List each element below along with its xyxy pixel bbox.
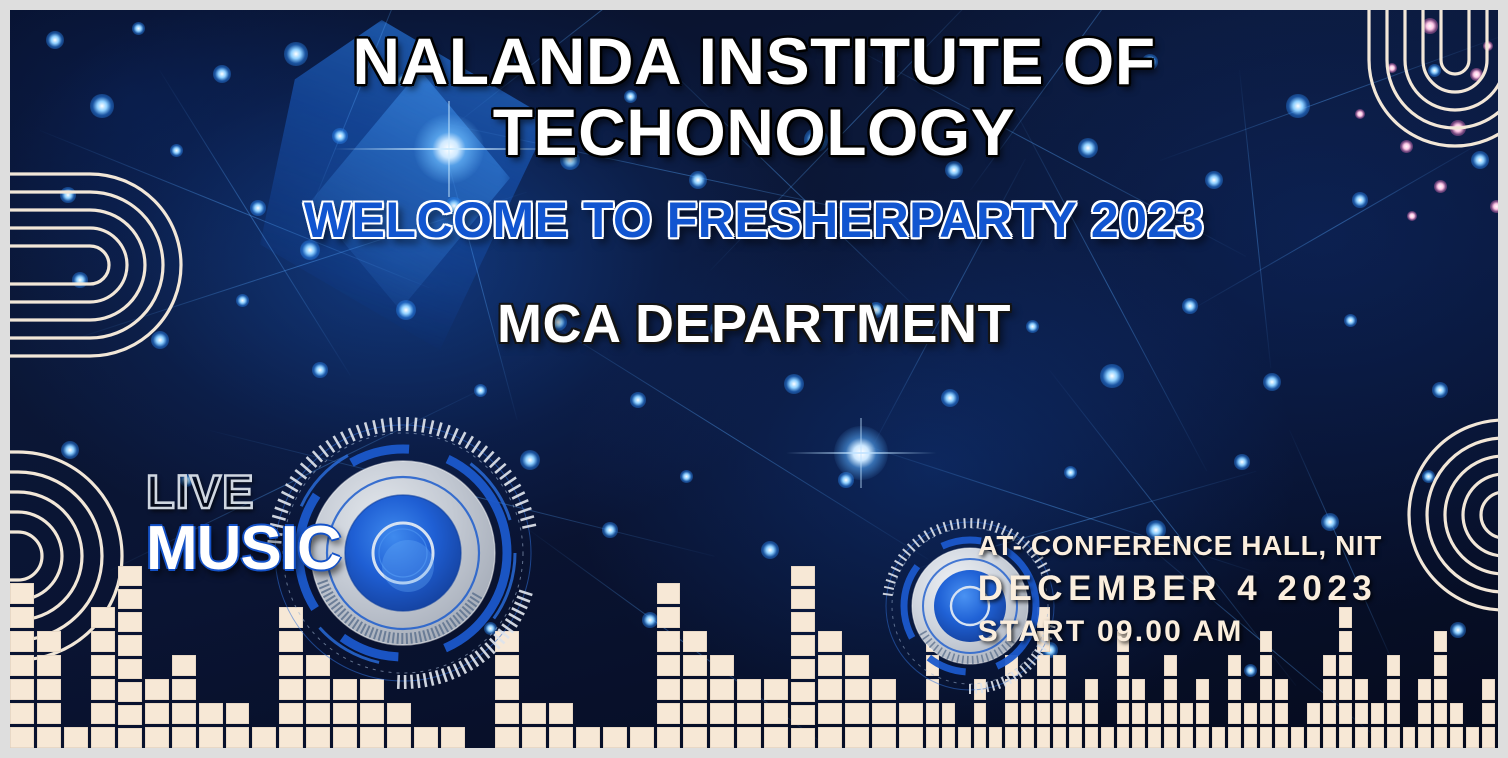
star-node — [784, 374, 805, 395]
equalizer-block — [872, 703, 896, 724]
equalizer-block — [226, 727, 250, 748]
equalizer-block — [1371, 727, 1384, 748]
equalizer-block — [1085, 727, 1098, 748]
equalizer-block — [683, 679, 707, 700]
equalizer-block — [1228, 655, 1241, 676]
equalizer-block — [252, 727, 276, 748]
equalizer-column — [91, 563, 115, 748]
star-node — [312, 362, 328, 378]
welcome-subtitle: WELCOME TO FRESHERPARTY 2023 — [10, 191, 1498, 249]
event-date: DECEMBER 4 2023 — [978, 569, 1382, 609]
equalizer-block — [1132, 703, 1145, 724]
equalizer-block — [118, 682, 142, 702]
equalizer-block — [1148, 727, 1161, 748]
equalizer-block — [1291, 727, 1304, 748]
equalizer-block — [1275, 703, 1288, 724]
equalizer-block — [899, 703, 923, 724]
equalizer-block — [1307, 727, 1320, 748]
equalizer-block — [791, 566, 815, 586]
equalizer-block — [1323, 727, 1336, 748]
equalizer-block — [118, 612, 142, 632]
equalizer-block — [64, 727, 88, 748]
equalizer-column — [37, 563, 61, 748]
equalizer-block — [1053, 703, 1066, 724]
institute-title-line2: TECHONOLOGY — [10, 97, 1498, 168]
equalizer-block — [764, 703, 788, 724]
equalizer-block — [1323, 679, 1336, 700]
equalizer-block — [683, 631, 707, 652]
equalizer-block — [1260, 703, 1273, 724]
equalizer-block — [1275, 727, 1288, 748]
star-node — [1234, 454, 1250, 470]
equalizer-block — [172, 655, 196, 676]
equalizer-block — [818, 703, 842, 724]
equalizer-block — [1117, 727, 1130, 748]
equalizer-block — [1339, 703, 1352, 724]
equalizer-block — [549, 703, 573, 724]
equalizer-block — [1053, 727, 1066, 748]
equalizer-block — [91, 631, 115, 652]
equalizer-block — [1434, 655, 1447, 676]
equalizer-block — [1434, 631, 1447, 652]
equalizer-block — [1387, 703, 1400, 724]
equalizer-block — [1196, 703, 1209, 724]
equalizer-block — [1355, 679, 1368, 700]
equalizer-block — [942, 727, 955, 748]
equalizer-block — [791, 682, 815, 702]
equalizer-block — [974, 727, 987, 748]
equalizer-block — [172, 703, 196, 724]
equalizer-block — [1387, 679, 1400, 700]
equalizer-column — [683, 563, 707, 748]
equalizer-column — [1466, 563, 1479, 748]
equalizer-block — [1418, 703, 1431, 724]
equalizer-block — [333, 703, 357, 724]
equalizer-column — [199, 563, 223, 748]
star-node — [680, 470, 693, 483]
equalizer-block — [172, 727, 196, 748]
equalizer-block — [764, 727, 788, 748]
event-venue: AT- CONFERENCE HALL, NIT — [978, 530, 1382, 562]
equalizer-block — [1403, 727, 1416, 748]
equalizer-block — [710, 679, 734, 700]
equalizer-block — [657, 727, 681, 748]
equalizer-block — [1180, 703, 1193, 724]
equalizer-column — [1403, 563, 1416, 748]
equalizer-block — [1196, 727, 1209, 748]
equalizer-block — [1355, 727, 1368, 748]
equalizer-column — [1387, 563, 1400, 748]
equalizer-block — [1482, 679, 1495, 700]
equalizer-block — [1387, 655, 1400, 676]
event-banner: NALANDA INSTITUTE OF TECHONOLOGY WELCOME… — [0, 0, 1508, 758]
equalizer-block — [360, 727, 384, 748]
equalizer-block — [657, 607, 681, 628]
equalizer-block — [279, 703, 303, 724]
equalizer-block — [172, 679, 196, 700]
equalizer-block — [1085, 679, 1098, 700]
equalizer-column — [818, 563, 842, 748]
equalizer-block — [737, 679, 761, 700]
equalizer-block — [1005, 727, 1018, 748]
equalizer-block — [683, 727, 707, 748]
equalizer-block — [1418, 727, 1431, 748]
equalizer-block — [522, 703, 546, 724]
equalizer-block — [387, 703, 411, 724]
equalizer-block — [1101, 727, 1114, 748]
department-title: MCA DEPARTMENT — [10, 293, 1498, 355]
equalizer-block — [549, 727, 573, 748]
equalizer-block — [10, 655, 34, 676]
equalizer-block — [1339, 727, 1352, 748]
equalizer-block — [764, 679, 788, 700]
equalizer-block — [657, 583, 681, 604]
equalizer-block — [1355, 703, 1368, 724]
equalizer-block — [199, 703, 223, 724]
star-node — [941, 389, 959, 407]
equalizer-block — [603, 727, 627, 748]
headings-block: NALANDA INSTITUTE OF TECHONOLOGY WELCOME… — [10, 26, 1498, 355]
star-node — [1263, 373, 1281, 391]
equalizer-column — [145, 563, 169, 748]
equalizer-column — [64, 563, 88, 748]
equalizer-block — [974, 703, 987, 724]
equalizer-block — [10, 727, 34, 748]
equalizer-block — [279, 727, 303, 748]
equalizer-block — [1387, 727, 1400, 748]
institute-title-line1: NALANDA INSTITUTE OF — [10, 26, 1498, 97]
equalizer-column — [657, 563, 681, 748]
equalizer-block — [845, 679, 869, 700]
equalizer-block — [1275, 679, 1288, 700]
equalizer-block — [710, 727, 734, 748]
equalizer-column — [1482, 563, 1495, 748]
equalizer-block — [1228, 679, 1241, 700]
equalizer-block — [926, 727, 939, 748]
equalizer-block — [1434, 727, 1447, 748]
equalizer-block — [1117, 703, 1130, 724]
equalizer-block — [1228, 727, 1241, 748]
equalizer-block — [91, 679, 115, 700]
equalizer-column — [1450, 563, 1463, 748]
equalizer-block — [926, 703, 939, 724]
equalizer-block — [1482, 727, 1495, 748]
equalizer-block — [1260, 679, 1273, 700]
star-node — [1064, 466, 1077, 479]
equalizer-block — [1164, 679, 1177, 700]
equalizer-block — [657, 703, 681, 724]
star-node — [1100, 364, 1123, 387]
equalizer-block — [1244, 703, 1257, 724]
equalizer-block — [91, 655, 115, 676]
equalizer-block — [495, 727, 519, 748]
equalizer-block — [1482, 703, 1495, 724]
equalizer-block — [1196, 679, 1209, 700]
equalizer-block — [657, 679, 681, 700]
equalizer-block — [1021, 727, 1034, 748]
equalizer-block — [495, 703, 519, 724]
equalizer-block — [306, 727, 330, 748]
equalizer-column — [603, 563, 627, 748]
equalizer-block — [630, 727, 654, 748]
equalizer-block — [683, 703, 707, 724]
equalizer-block — [1244, 727, 1257, 748]
equalizer-block — [10, 703, 34, 724]
equalizer-block — [37, 655, 61, 676]
equalizer-block — [791, 659, 815, 679]
equalizer-block — [37, 631, 61, 652]
equalizer-block — [845, 655, 869, 676]
equalizer-block — [791, 728, 815, 748]
equalizer-block — [1005, 703, 1018, 724]
equalizer-block — [1450, 727, 1463, 748]
equalizer-block — [818, 727, 842, 748]
equalizer-column — [710, 563, 734, 748]
star-node — [1432, 382, 1448, 398]
equalizer-column — [576, 563, 600, 748]
equalizer-block — [1069, 703, 1082, 724]
equalizer-block — [441, 727, 465, 748]
equalizer-block — [1466, 727, 1479, 748]
equalizer-column — [549, 563, 573, 748]
star-node — [761, 541, 779, 559]
equalizer-block — [306, 703, 330, 724]
equalizer-block — [10, 607, 34, 628]
equalizer-block — [1117, 655, 1130, 676]
equalizer-block — [91, 703, 115, 724]
equalizer-block — [1260, 655, 1273, 676]
equalizer-block — [10, 679, 34, 700]
live-label: LIVE — [146, 468, 341, 515]
equalizer-block — [91, 607, 115, 628]
equalizer-block — [1228, 703, 1241, 724]
equalizer-block — [737, 703, 761, 724]
star-node — [1321, 513, 1339, 531]
equalizer-block — [118, 589, 142, 609]
equalizer-block — [37, 703, 61, 724]
equalizer-column — [1418, 563, 1431, 748]
equalizer-block — [37, 727, 61, 748]
equalizer-block — [657, 631, 681, 652]
equalizer-block — [226, 703, 250, 724]
equalizer-block — [1418, 679, 1431, 700]
equalizer-block — [1339, 679, 1352, 700]
equalizer-column — [845, 563, 869, 748]
equalizer-block — [387, 727, 411, 748]
equalizer-block — [199, 727, 223, 748]
star-node — [630, 392, 646, 408]
equalizer-block — [91, 727, 115, 748]
equalizer-block — [1164, 655, 1177, 676]
equalizer-column — [226, 563, 250, 748]
equalizer-block — [333, 727, 357, 748]
equalizer-column — [791, 563, 815, 748]
equalizer-block — [360, 703, 384, 724]
equalizer-block — [1164, 727, 1177, 748]
equalizer-block — [1260, 727, 1273, 748]
equalizer-block — [1434, 679, 1447, 700]
equalizer-block — [145, 703, 169, 724]
equalizer-block — [1180, 727, 1193, 748]
equalizer-block — [1117, 679, 1130, 700]
equalizer-block — [118, 728, 142, 748]
equalizer-column — [764, 563, 788, 748]
equalizer-block — [576, 727, 600, 748]
equalizer-block — [118, 659, 142, 679]
event-details-block: AT- CONFERENCE HALL, NIT DECEMBER 4 2023… — [978, 530, 1382, 649]
equalizer-block — [1085, 703, 1098, 724]
equalizer-block — [1307, 703, 1320, 724]
equalizer-block — [818, 655, 842, 676]
equalizer-block — [791, 589, 815, 609]
equalizer-block — [737, 727, 761, 748]
equalizer-block — [10, 583, 34, 604]
equalizer-block — [1069, 727, 1082, 748]
live-music-logo: LIVE MUSIC — [146, 468, 341, 580]
equalizer-block — [845, 703, 869, 724]
equalizer-block — [118, 566, 142, 586]
equalizer-block — [1434, 703, 1447, 724]
equalizer-block — [1148, 703, 1161, 724]
equalizer-block — [657, 655, 681, 676]
equalizer-block — [1037, 703, 1050, 724]
equalizer-block — [118, 635, 142, 655]
equalizer-column — [630, 563, 654, 748]
equalizer-column — [1434, 563, 1447, 748]
equalizer-block — [791, 705, 815, 725]
music-label: MUSIC — [146, 518, 341, 580]
equalizer-block — [872, 727, 896, 748]
equalizer-column — [118, 563, 142, 748]
equalizer-column — [737, 563, 761, 748]
equalizer-block — [845, 727, 869, 748]
equalizer-block — [1371, 703, 1384, 724]
equalizer-block — [414, 727, 438, 748]
equalizer-block — [37, 679, 61, 700]
equalizer-block — [1212, 727, 1225, 748]
equalizer-block — [1323, 703, 1336, 724]
equalizer-block — [1132, 679, 1145, 700]
equalizer-block — [958, 727, 971, 748]
equalizer-block — [989, 727, 1002, 748]
equalizer-block — [791, 612, 815, 632]
equalizer-block — [1037, 727, 1050, 748]
equalizer-column — [10, 563, 34, 748]
equalizer-block — [1339, 655, 1352, 676]
equalizer-block — [1164, 703, 1177, 724]
equalizer-column — [172, 563, 196, 748]
star-flare-secondary — [834, 426, 888, 480]
equalizer-block — [1323, 655, 1336, 676]
equalizer-block — [1450, 703, 1463, 724]
equalizer-block — [118, 705, 142, 725]
equalizer-block — [1132, 727, 1145, 748]
equalizer-block — [818, 679, 842, 700]
equalizer-block — [145, 679, 169, 700]
event-start-time: START 09.00 AM — [978, 615, 1382, 649]
equalizer-block — [710, 655, 734, 676]
equalizer-block — [942, 703, 955, 724]
equalizer-block — [145, 727, 169, 748]
star-node — [602, 522, 618, 538]
equalizer-block — [522, 727, 546, 748]
equalizer-block — [10, 631, 34, 652]
star-node — [474, 384, 487, 397]
equalizer-block — [818, 631, 842, 652]
equalizer-block — [899, 727, 923, 748]
equalizer-block — [1021, 703, 1034, 724]
equalizer-block — [683, 655, 707, 676]
equalizer-block — [710, 703, 734, 724]
equalizer-block — [791, 635, 815, 655]
